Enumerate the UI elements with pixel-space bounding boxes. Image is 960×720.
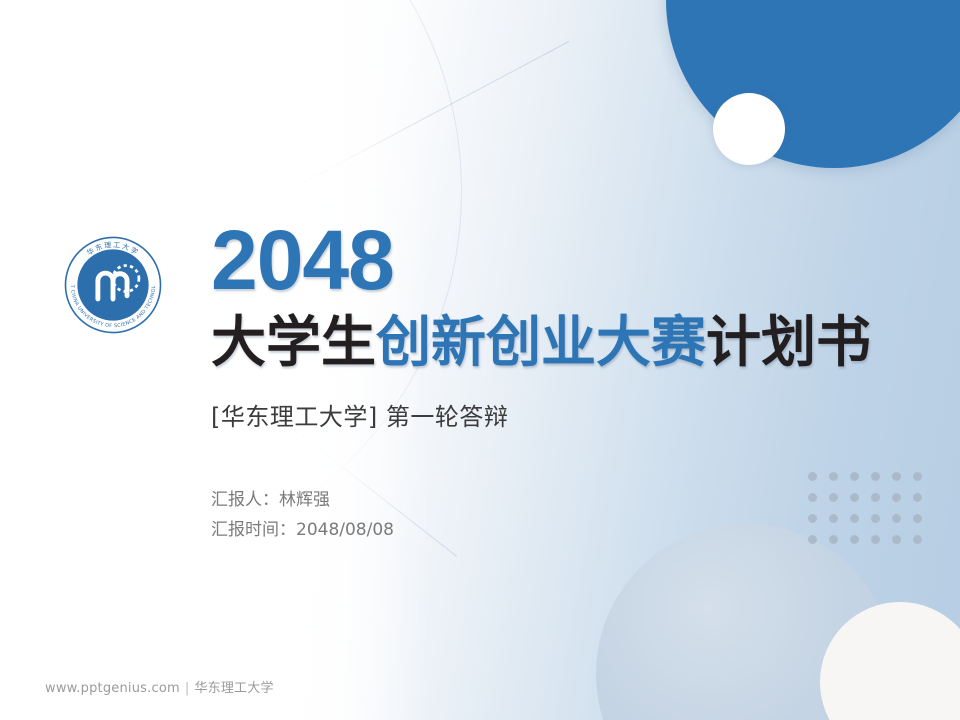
report-date-line: 汇报时间：2048/08/08	[211, 516, 911, 546]
footer-separator: |	[185, 681, 190, 696]
title-block: 2048 大学生创新创业大赛计划书 [华东理工大学] 第一轮答辩 汇报人：林辉强…	[211, 218, 911, 546]
grid-dot	[913, 535, 922, 544]
university-logo: 华东理工大学 EAST CHINA UNIVERSITY OF SCIENCE …	[38, 213, 184, 359]
ecust-seal-icon: 华东理工大学 EAST CHINA UNIVERSITY OF SCIENCE …	[59, 231, 167, 339]
main-title-segment-1: 大学生	[211, 310, 376, 374]
decorative-circle-blue-top-right	[666, 0, 960, 168]
presenter-meta: 汇报人：林辉强 汇报时间：2048/08/08	[211, 486, 911, 546]
grid-dot	[913, 472, 922, 481]
main-title-segment-2: 创新创业大赛	[376, 310, 706, 374]
footer-site[interactable]: www.pptgenius.com	[45, 681, 180, 696]
main-title: 大学生创新创业大赛计划书	[211, 314, 911, 371]
grid-dot	[913, 493, 922, 502]
presenter-line: 汇报人：林辉强	[211, 486, 911, 516]
footer: www.pptgenius.com|华东理工大学	[45, 677, 274, 696]
grid-dot	[913, 514, 922, 523]
main-title-segment-3: 计划书	[706, 310, 871, 374]
year-heading: 2048	[211, 218, 911, 302]
decorative-circle-white-accent	[713, 93, 785, 165]
subtitle: [华东理工大学] 第一轮答辩	[211, 397, 911, 432]
presentation-slide: 华东理工大学 EAST CHINA UNIVERSITY OF SCIENCE …	[0, 0, 960, 720]
footer-org: 华东理工大学	[194, 681, 273, 696]
